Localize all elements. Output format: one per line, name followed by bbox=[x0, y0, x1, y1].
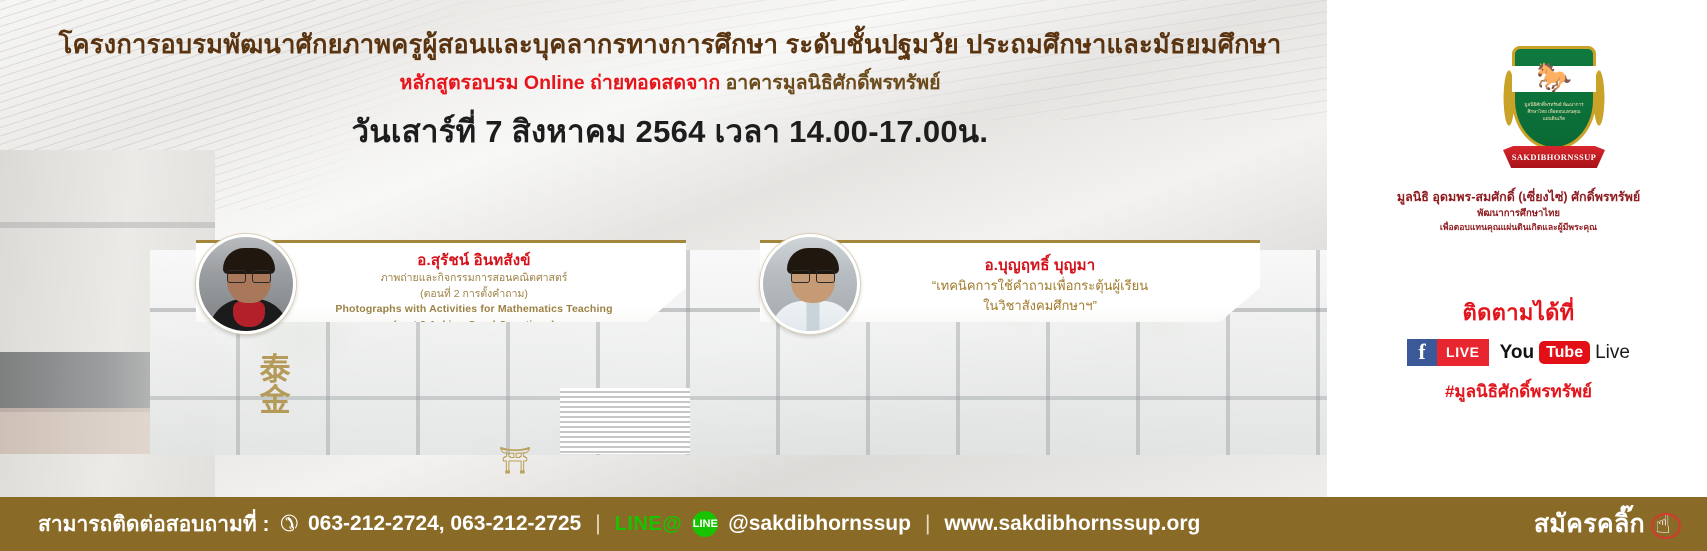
crest-ribbon: SAKDIBHORNSSUP bbox=[1503, 146, 1605, 168]
footer-contact-bar: สามารถติดต่อสอบถามที่ : ✆ 063-212-2724, … bbox=[0, 497, 1707, 551]
floor-band-lower bbox=[0, 408, 150, 454]
footer-contact-info: สามารถติดต่อสอบถามที่ : ✆ 063-212-2724, … bbox=[0, 508, 1200, 541]
avatar-1-glasses-icon bbox=[227, 270, 271, 281]
apply-now-label: สมัครคลิ๊ก bbox=[1534, 504, 1645, 544]
wall-badge-icon: ⛩ bbox=[498, 450, 532, 494]
speaker-1-name: อ.สุรัชน์ อินทสังข์ bbox=[308, 251, 640, 271]
promo-banner: 泰金 ⛩ โครงการอบรมพัฒนาศักยภาพครูผู้สอนและ… bbox=[0, 0, 1707, 551]
avatar-1-scarf bbox=[233, 301, 265, 327]
foundation-crest-logo: 🐎 มูลนิธิศักดิ์พรทรัพย์ พัฒนาการศึกษาไทย… bbox=[1498, 30, 1610, 180]
footer-line-id[interactable]: @sakdibhornssup bbox=[728, 512, 911, 536]
avatar-2-glasses-icon bbox=[791, 270, 835, 281]
footer-phone-numbers[interactable]: 063-212-2724, 063-212-2725 bbox=[308, 512, 581, 536]
crest-ribbon-label: SAKDIBHORNSSUP bbox=[1503, 146, 1605, 168]
facebook-icon: f bbox=[1407, 339, 1437, 366]
header: โครงการอบรมพัฒนาศักยภาพครูผู้สอนและบุคลา… bbox=[0, 30, 1340, 156]
subtitle-venue: อาคารมูลนิธิศักดิ์พรทรัพย์ bbox=[726, 72, 941, 94]
speaker-2-topic-th-2: ในวิชาสังคมศึกษาฯ” bbox=[872, 296, 1208, 316]
footer-contact-label: สามารถติดต่อสอบถามที่ : bbox=[38, 508, 270, 541]
speaker-1-topic-th-1: ภาพถ่ายและกิจกรรมการสอนคณิตศาสตร์ bbox=[308, 271, 640, 287]
footer-divider-2: | bbox=[921, 512, 934, 536]
header-subtitle: หลักสูตรอบรม Online ถ่ายทอดสดจาก อาคารมู… bbox=[0, 71, 1340, 96]
louvre-panel bbox=[560, 388, 690, 454]
follow-section: ติดตามได้ที่ f LIVE You Tube Live bbox=[1330, 295, 1707, 366]
speaker-1-topic-th-2: (ตอนที่ 2 การตั้งคำถาม) bbox=[308, 287, 640, 303]
event-datetime: วันเสาร์ที่ 7 สิงหาคม 2564 เวลา 14.00-17… bbox=[0, 106, 1340, 156]
phone-icon: ✆ bbox=[280, 511, 298, 537]
wall-glyphs: 泰金 bbox=[245, 355, 305, 450]
subtitle-online: หลักสูตรอบรม Online ถ่ายทอดสดจาก bbox=[399, 72, 720, 94]
speaker-1-avatar bbox=[196, 234, 296, 334]
crest-motto-text: มูลนิธิศักดิ์พรทรัพย์ พัฒนาการศึกษาไทย เ… bbox=[1524, 102, 1584, 123]
speaker-2-avatar bbox=[760, 234, 860, 334]
youtube-live-button[interactable]: You Tube Live bbox=[1500, 340, 1630, 366]
facebook-live-button[interactable]: f LIVE bbox=[1407, 339, 1489, 366]
follow-title: ติดตามได้ที่ bbox=[1330, 295, 1707, 330]
footer-website-link[interactable]: www.sakdibhornssup.org bbox=[944, 512, 1200, 536]
line-bubble-icon: LINE bbox=[692, 511, 718, 537]
youtube-icon: Tube bbox=[1539, 341, 1590, 364]
hashtag: #มูลนิธิศักดิ์พรทรัพย์ bbox=[1330, 378, 1707, 405]
org-line-3: เพื่อตอบแทนคุณแผ่นดินเกิดและผู้มีพระคุณ bbox=[1330, 221, 1707, 235]
facebook-live-label: LIVE bbox=[1437, 339, 1489, 366]
organization-name-block: มูลนิธิ อุดมพร-สมศักดิ์ (เซี่ยงไซ่) ศักด… bbox=[1330, 188, 1707, 235]
crest-horse-icon: 🐎 bbox=[1528, 63, 1580, 95]
footer-divider-1: | bbox=[591, 512, 604, 536]
floor-band bbox=[0, 352, 150, 412]
click-cursor-icon: ☝ bbox=[1651, 507, 1685, 541]
youtube-you-label: You bbox=[1500, 342, 1534, 364]
org-line-1: มูลนิธิ อุดมพร-สมศักดิ์ (เซี่ยงไซ่) ศักด… bbox=[1330, 188, 1707, 207]
speaker-2-name: อ.บุญฤทธิ์ บุญมา bbox=[872, 256, 1208, 276]
org-line-2: พัฒนาการศึกษาไทย bbox=[1330, 207, 1707, 221]
speaker-1-topic-en-1: Photographs with Activities for Mathemat… bbox=[308, 302, 640, 318]
line-at-icon: LINE@ bbox=[615, 513, 683, 536]
apply-now-button[interactable]: สมัครคลิ๊ก ☝ bbox=[1534, 504, 1685, 544]
page-title: โครงการอบรมพัฒนาศักยภาพครูผู้สอนและบุคลา… bbox=[0, 30, 1340, 62]
social-links: f LIVE You Tube Live bbox=[1330, 339, 1707, 366]
speaker-2-topic-th-1: “เทคนิคการใช้คำถามเพื่อกระตุ้นผู้เรียน bbox=[872, 276, 1208, 296]
youtube-live-label: Live bbox=[1595, 342, 1630, 364]
cursor-ring bbox=[1651, 513, 1681, 539]
